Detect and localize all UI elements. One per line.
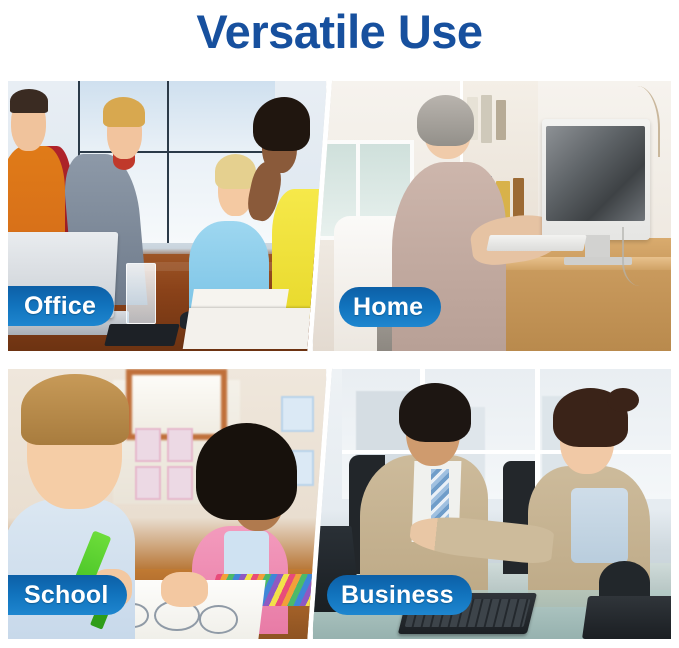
home-monitor-foot	[564, 257, 632, 265]
panel-row-bottom: School	[7, 368, 672, 640]
business-desk-phone	[582, 596, 671, 639]
panel-school[interactable]: School	[7, 368, 327, 640]
home-monitor-stand	[585, 235, 610, 259]
office-water-glass	[126, 263, 157, 324]
home-monitor	[542, 119, 649, 241]
badge-business[interactable]: Business	[327, 575, 472, 615]
versatile-use-banner: Versatile Use	[0, 0, 679, 648]
school-boy-hair	[21, 374, 129, 444]
office-notebook	[183, 308, 323, 349]
home-books	[481, 95, 492, 144]
office-person-4-hair	[253, 97, 310, 151]
business-man-hair	[399, 383, 471, 442]
office-window-mullion	[78, 151, 275, 153]
business-woman-blouse	[571, 488, 628, 564]
home-cable	[622, 227, 667, 286]
page-title: Versatile Use	[0, 2, 679, 62]
office-person-2-hair	[103, 97, 144, 127]
school-boy-hand	[161, 572, 209, 607]
home-person-hair	[417, 95, 474, 146]
panel-office[interactable]: Office	[7, 80, 327, 352]
home-keyboard	[487, 235, 587, 251]
panel-home[interactable]: Home	[312, 80, 672, 352]
badge-school[interactable]: School	[8, 575, 127, 615]
school-pinned-artwork	[167, 428, 193, 462]
school-pinned-artwork	[281, 396, 314, 432]
business-window-mullion	[342, 450, 671, 454]
business-woman-hair-bun	[607, 388, 639, 412]
home-books	[496, 100, 507, 141]
badge-office[interactable]: Office	[8, 286, 114, 326]
home-monitor-screen	[546, 126, 645, 221]
badge-home[interactable]: Home	[339, 287, 441, 327]
panel-row-top: Office	[7, 80, 672, 352]
panel-business[interactable]: Business	[312, 368, 672, 640]
school-pinned-artwork	[135, 428, 161, 462]
office-calculator	[104, 324, 179, 346]
office-person-3-hair	[215, 154, 256, 189]
panel-grid: Office	[7, 80, 672, 640]
school-drawing-scribble	[199, 605, 238, 633]
school-pinned-artwork	[167, 466, 193, 500]
office-person-1-hair	[10, 89, 48, 113]
school-girl-hair	[196, 423, 298, 520]
office-window-mullion	[167, 81, 169, 243]
school-pinned-artwork	[135, 466, 161, 500]
